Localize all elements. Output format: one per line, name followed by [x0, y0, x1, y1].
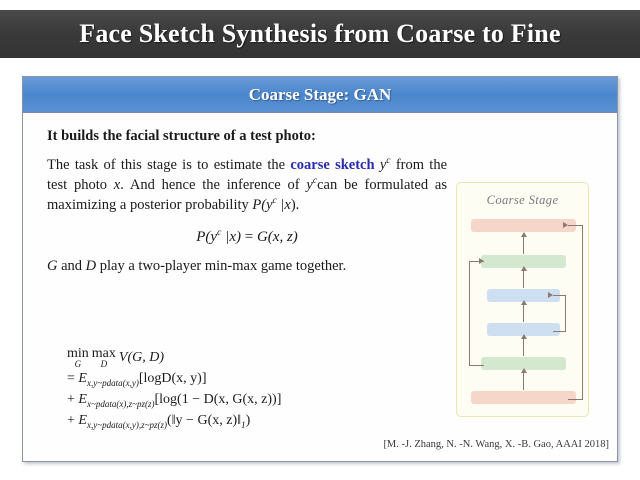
line4-prefix: + [67, 413, 78, 428]
para-part3: . And hence the inference of [120, 177, 306, 193]
bar-salmon-bottom [471, 391, 576, 404]
arrow-green-to-salmon-top [523, 236, 524, 254]
line2-E: E [78, 371, 87, 386]
skip-connection-inner-right [553, 295, 566, 332]
para-part1: The task of this stage is to estimate th… [47, 157, 290, 173]
equation-posterior: P(yc |x) = G(x, z) [47, 227, 447, 246]
line4-sub-tail2: (z) [157, 419, 167, 429]
sentence-mid: and [57, 258, 85, 274]
skip-connection-outer-right [568, 225, 583, 400]
line3-E: E [78, 392, 87, 407]
formula-line-4: + Ex,y~pdata(x,y),z~pz(z)(‖y − G(x, z)‖1… [67, 411, 281, 432]
formula-line-1: minGmaxDV(G, D) [67, 347, 281, 369]
text-column: It builds the facial structure of a test… [47, 128, 447, 279]
line3-sub-a: x~p [87, 399, 100, 409]
arrow-blue-to-blue [523, 304, 524, 322]
sentence-gd-game: G and D play a two-player min-max game t… [47, 258, 447, 275]
line4-body-end: ) [246, 413, 251, 428]
skip-connection-outer-left [469, 261, 484, 366]
line4-body: (‖y − G(x, z)‖ [167, 413, 241, 428]
line3-prefix: + [67, 392, 78, 407]
line2-sub-tail: (x,y) [123, 378, 139, 388]
line3-body: [log(1 − D(x, G(x, z))] [155, 392, 282, 407]
arrow-blue-to-green-upper [523, 270, 524, 288]
formula-v-term: V(G, D) [119, 350, 164, 365]
line3-sub-data: data [100, 399, 116, 409]
line4-sub-data: data [107, 419, 123, 429]
formula-line-2: = Ex,y~pdata(x,y)[logD(x, y)] [67, 369, 281, 390]
line4-E: E [78, 413, 87, 428]
line2-prefix: = [67, 371, 78, 386]
arrow-green-to-blue-lower [523, 338, 524, 356]
slide-title-banner: Face Sketch Synthesis from Coarse to Fin… [0, 10, 640, 58]
para-part7: ). [291, 197, 299, 213]
highlight-coarse-sketch: coarse sketch [290, 157, 374, 173]
bar-salmon-top [471, 219, 576, 232]
line4-sub-tail: (x,y),z~p [123, 419, 154, 429]
line2-sub-a: x,y~p [87, 378, 107, 388]
max-subscript: D [92, 360, 116, 369]
section-header-label: Coarse Stage: GAN [249, 85, 392, 105]
line3-sub-tail: (x),z~p [116, 399, 141, 409]
section-header-bar: Coarse Stage: GAN [23, 77, 617, 113]
slide-content-frame: Coarse Stage: GAN It builds the facial s… [22, 76, 618, 462]
var-G: G [47, 258, 57, 274]
diagram-title: Coarse Stage [457, 193, 588, 208]
arrow-salmon-to-green-lower [523, 372, 524, 390]
eq-var-x: x [229, 229, 236, 245]
var-D: D [86, 258, 96, 274]
lead-line: It builds the facial structure of a test… [47, 128, 447, 145]
para-P-open: P( [252, 197, 266, 213]
sentence-rest: play a two-player min-max game together. [96, 258, 346, 274]
eq-rhs: G(x, z) [257, 229, 298, 245]
body-paragraph: The task of this stage is to estimate th… [47, 155, 447, 215]
line2-body: [logD(x, y)] [139, 371, 207, 386]
line4-sub-a: x,y~p [87, 419, 107, 429]
line3-subscript: x~pdata(x),z~pz(z) [87, 399, 155, 409]
eq-equals: = [241, 229, 257, 245]
skip-arrow-outer-left [479, 258, 484, 264]
page-title: Face Sketch Synthesis from Coarse to Fin… [79, 19, 560, 49]
coarse-stage-diagram: Coarse Stage [456, 182, 589, 417]
min-operator: minG [67, 347, 89, 369]
line4-subscript: x,y~pdata(x,y),z~pz(z) [87, 419, 167, 429]
skip-arrow-inner-right [548, 292, 553, 298]
line2-subscript: x,y~pdata(x,y) [87, 378, 139, 388]
line2-sub-data: data [107, 378, 123, 388]
min-subscript: G [67, 360, 89, 369]
gan-objective-formula: minGmaxDV(G, D) = Ex,y~pdata(x,y)[logD(x… [67, 347, 281, 432]
citation-text: [M. -J. Zhang, N. -N. Wang, X. -B. Gao, … [323, 439, 609, 450]
eq-P-open: P( [196, 229, 210, 245]
line3-sub-tail2: (z) [145, 399, 155, 409]
formula-line-3: + Ex~pdata(x),z~pz(z)[log(1 − D(x, G(x, … [67, 390, 281, 411]
skip-arrow-outer-right [563, 222, 568, 228]
slide-body: It builds the facial structure of a test… [23, 114, 617, 461]
max-operator: maxD [92, 347, 116, 369]
